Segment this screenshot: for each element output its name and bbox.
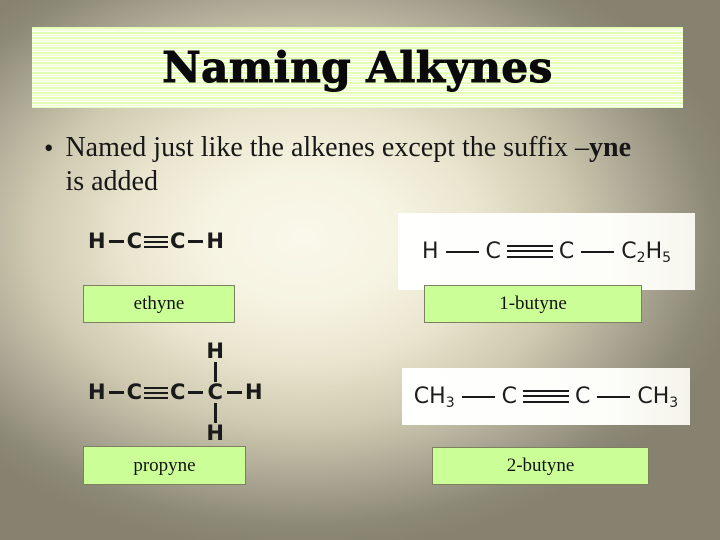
atom-c-2: C <box>170 382 185 403</box>
1butyne-formula-row: H C C C2H5 <box>422 241 671 263</box>
bullet-text-bold-suffix: yne <box>589 132 631 163</box>
ethyne-formula-row: H C C H <box>88 231 224 252</box>
atom-h-right: H <box>206 231 224 252</box>
single-bond <box>188 391 203 394</box>
name-label-1butyne[interactable]: 1-butyne <box>424 285 642 323</box>
triple-bond <box>507 245 553 258</box>
page-title: Naming Alkynes <box>162 47 552 89</box>
structure-propyne: H C C H C H H <box>88 341 263 444</box>
single-bond <box>446 251 479 253</box>
group-ethyl-c: C <box>621 239 636 264</box>
group-methyl-right-ch: CH <box>637 384 669 409</box>
group-ethyl-sub2: 2 <box>637 250 646 266</box>
single-bond <box>109 240 124 243</box>
atom-h-left: H <box>88 382 106 403</box>
group-ethyl: C2H5 <box>621 241 671 263</box>
atom-c-1: C <box>127 231 142 252</box>
single-bond <box>597 396 630 398</box>
group-methyl-left: CH3 <box>414 386 455 408</box>
propyne-formula-row: H C C H C H H <box>88 341 263 444</box>
methyl-carbon-column: H C H <box>206 341 224 444</box>
atom-c-2: C <box>575 386 590 408</box>
structure-ethyne: H C C H <box>88 231 224 252</box>
single-bond <box>188 240 203 243</box>
group-ethyl-sub5: 5 <box>662 250 671 266</box>
single-bond <box>109 391 124 394</box>
bullet-list: • Named just like the alkenes except the… <box>44 131 654 199</box>
group-ethyl-h: H <box>646 239 663 264</box>
2butyne-formula-row: CH3 C C CH3 <box>414 386 678 408</box>
group-methyl-right: CH3 <box>637 386 678 408</box>
atom-c-1: C <box>502 386 517 408</box>
atom-h-bottom: H <box>206 423 224 444</box>
atom-c-1: C <box>127 382 142 403</box>
atom-c-1: C <box>486 241 501 263</box>
atom-h-left: H <box>88 231 106 252</box>
group-methyl-left-ch: CH <box>414 384 446 409</box>
name-label-ethyne[interactable]: ethyne <box>83 285 235 323</box>
formula-card-2butyne: CH3 C C CH3 <box>402 368 690 425</box>
triple-bond <box>144 387 168 399</box>
bullet-marker-icon: • <box>44 131 53 165</box>
slide-canvas: Naming Alkynes • Named just like the alk… <box>0 0 720 540</box>
single-bond <box>227 391 242 394</box>
triple-bond <box>523 390 569 403</box>
single-bond <box>581 251 614 253</box>
group-methyl-left-sub3: 3 <box>446 395 455 411</box>
single-bond <box>462 396 495 398</box>
title-banner: Naming Alkynes <box>32 27 683 108</box>
atom-c-2: C <box>559 241 574 263</box>
bullet-item-text: Named just like the alkenes except the s… <box>65 131 654 199</box>
bullet-text-part1: Named just like the alkenes except the s… <box>65 132 589 163</box>
atom-c-2: C <box>170 231 185 252</box>
vertical-bond-top <box>214 362 217 382</box>
atom-h-right: H <box>245 382 263 403</box>
triple-bond <box>144 236 168 248</box>
atom-h-left: H <box>422 241 439 263</box>
bullet-text-part2: is added <box>65 166 158 197</box>
formula-card-1butyne: H C C C2H5 <box>398 213 695 290</box>
atom-h-top: H <box>206 341 224 362</box>
name-label-propyne[interactable]: propyne <box>83 446 246 485</box>
group-methyl-right-sub3: 3 <box>669 395 678 411</box>
name-label-2butyne[interactable]: 2-butyne <box>432 447 649 485</box>
vertical-bond-bottom <box>214 403 217 423</box>
atom-c-3: C <box>208 382 223 403</box>
